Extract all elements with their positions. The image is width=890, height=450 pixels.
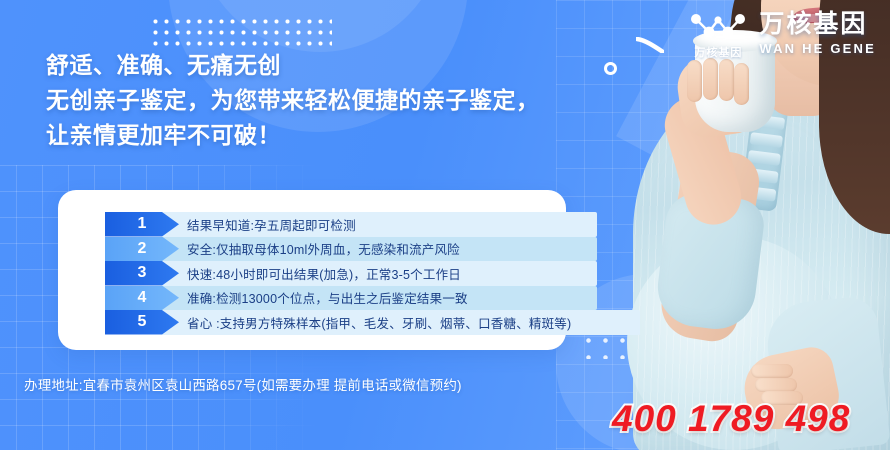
logo-mark-label: 万核基因 bbox=[687, 44, 749, 60]
arc-circle-top-inner bbox=[196, 0, 444, 52]
headline-line-1: 舒适、准确、无痛无创 bbox=[46, 48, 540, 83]
headline: 舒适、准确、无痛无创 无创亲子鉴定，为您带来轻松便捷的亲子鉴定， 让亲情更加牢不… bbox=[46, 48, 540, 153]
features-list: 1 结果早知道:孕五周起即可检测 2 安全:仅抽取母体10ml外周血，无感染和流… bbox=[105, 212, 585, 335]
feature-text: 准确:检测13000个位点，与出生之后鉴定结果一致 bbox=[179, 286, 468, 311]
address-text: 办理地址:宜春市袁州区袁山西路657号(如需要办理 提前电话或微信预约) bbox=[24, 374, 462, 394]
headline-line-3: 让亲情更加牢不可破！ bbox=[46, 118, 540, 153]
photo-fingers bbox=[687, 58, 749, 104]
brand-logo[interactable]: 万核基因 万核基因 WAN HE GENE bbox=[687, 10, 876, 60]
headline-line-2: 无创亲子鉴定，为您带来轻松便捷的亲子鉴定， bbox=[46, 83, 540, 118]
feature-row: 2 安全:仅抽取母体10ml外周血，无感染和流产风险 bbox=[105, 237, 585, 262]
promo-banner: 万核基因 万核基因 WAN HE GENE 舒适、准确、无痛无创 无创亲子鉴定，… bbox=[0, 0, 890, 450]
logo-mark: 万核基因 bbox=[687, 10, 749, 60]
pregnant-woman-photo bbox=[575, 0, 890, 450]
feature-text: 安全:仅抽取母体10ml外周血，无感染和流产风险 bbox=[179, 237, 460, 262]
phone-number[interactable]: 400 1789 498 bbox=[612, 398, 850, 440]
logo-name-cn: 万核基因 bbox=[759, 12, 876, 37]
feature-text: 省心 :支持男方特殊样本(指甲、毛发、牙刷、烟蒂、口香糖、精斑等) bbox=[179, 310, 571, 335]
feature-text: 结果早知道:孕五周起即可检测 bbox=[179, 212, 356, 237]
feature-text: 快速:48小时即可出结果(加急)，正常3-5个工作日 bbox=[179, 261, 461, 286]
feature-row: 5 省心 :支持男方特殊样本(指甲、毛发、牙刷、烟蒂、口香糖、精斑等) bbox=[105, 310, 585, 335]
feature-row: 1 结果早知道:孕五周起即可检测 bbox=[105, 212, 585, 237]
feature-row: 4 准确:检测13000个位点，与出生之后鉴定结果一致 bbox=[105, 286, 585, 311]
molecule-network-icon bbox=[687, 10, 749, 46]
feature-row: 3 快速:48小时即可出结果(加急)，正常3-5个工作日 bbox=[105, 261, 585, 286]
logo-wordmark: 万核基因 WAN HE GENE bbox=[759, 12, 876, 59]
dot-grid-top bbox=[150, 16, 332, 46]
logo-name-en: WAN HE GENE bbox=[759, 42, 876, 55]
